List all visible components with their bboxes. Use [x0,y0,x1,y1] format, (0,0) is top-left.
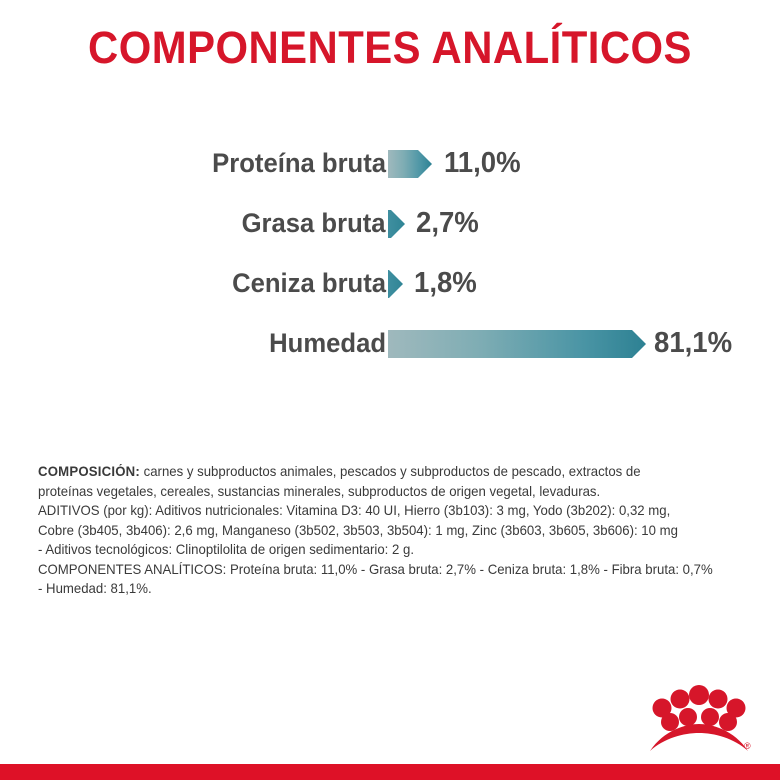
chart-row-fat: Grasa bruta 2,7% [0,200,780,260]
chart-bar-wrapper [388,150,432,178]
chart-bar-wrapper [388,210,405,238]
chart-row-label: Humedad [269,328,386,359]
page-title: COMPONENTES ANALÍTICOS [27,22,752,74]
composition-lead-label: COMPOSICIÓN: [38,464,140,479]
chart-row-value: 2,7% [416,207,479,240]
composition-line-1-text: carnes y subproductos animales, pescados… [140,464,641,479]
registered-mark: ® [744,741,751,751]
chart-row-moisture: Humedad 81,1% [0,320,780,380]
chart-bar [388,270,403,298]
analytical-components-chart: Proteína bruta 11,0% Grasa bruta 2,7% Ce… [0,140,780,380]
chart-bar [388,210,405,238]
chart-row-label: Grasa bruta [242,208,386,239]
chart-bar-wrapper [388,270,403,298]
composition-text-block: COMPOSICIÓN: carnes y subproductos anima… [38,462,723,599]
composition-line-1: COMPOSICIÓN: carnes y subproductos anima… [38,462,723,482]
chart-bar [388,150,432,178]
composition-line-4: Cobre (3b405, 3b406): 2,6 mg, Manganeso … [38,521,723,541]
chart-row-ash: Ceniza bruta 1,8% [0,260,780,320]
chart-row-label: Proteína bruta [212,148,386,179]
composition-line-5: - Aditivos tecnológicos: Clinoptilolita … [38,540,723,560]
composition-line-6: COMPONENTES ANALÍTICOS: Proteína bruta: … [38,560,723,580]
chart-row-value: 1,8% [414,267,477,300]
chart-row-value: 81,1% [654,327,732,360]
chart-bar [388,330,646,358]
chart-row-label: Ceniza bruta [232,268,386,299]
composition-line-3: ADITIVOS (por kg): Aditivos nutricionale… [38,501,723,521]
composition-line-7: - Humedad: 81,1%. [38,579,723,599]
product-analytical-components-panel: COMPONENTES ANALÍTICOS Proteína bruta 11… [0,0,780,780]
royal-canin-crown-icon: ® [640,684,758,758]
chart-row-protein: Proteína bruta 11,0% [0,140,780,200]
composition-line-2: proteínas vegetales, cereales, sustancia… [38,482,723,502]
footer-accent-bar [0,764,780,780]
chart-row-value: 11,0% [444,147,521,180]
chart-bar-wrapper [388,330,646,358]
